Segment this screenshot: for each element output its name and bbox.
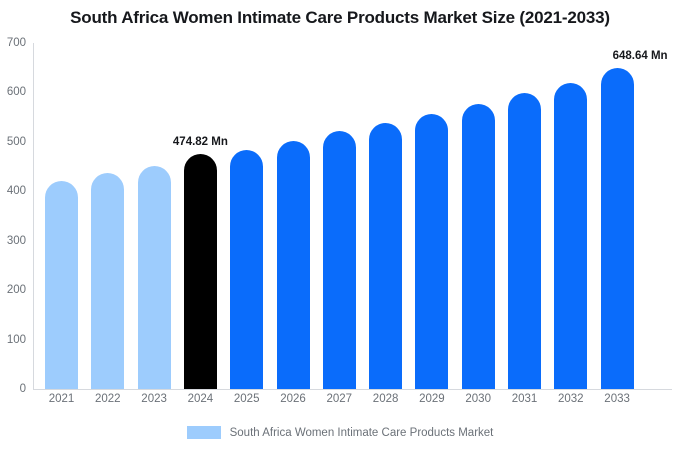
y-axis-tick-500: 500 bbox=[7, 136, 26, 148]
chart-title: South Africa Women Intimate Care Product… bbox=[0, 8, 680, 28]
x-axis-tick-2022: 2022 bbox=[91, 393, 124, 405]
x-axis-tick-2028: 2028 bbox=[369, 393, 402, 405]
bar-fill-2023 bbox=[138, 166, 171, 389]
bar-fill-2027 bbox=[323, 131, 356, 389]
bar-fill-2022 bbox=[91, 173, 124, 389]
bar-2033[interactable]: 648.64 Mn bbox=[601, 68, 634, 389]
bar-fill-2024 bbox=[184, 154, 217, 389]
bar-fill-2032 bbox=[554, 83, 587, 389]
bar-fill-2028 bbox=[369, 123, 402, 389]
bar-fill-2033 bbox=[601, 68, 634, 389]
bar-2027[interactable] bbox=[323, 131, 356, 389]
bar-fill-2026 bbox=[277, 141, 310, 389]
bar-2023[interactable] bbox=[138, 166, 171, 389]
x-axis-tick-2033: 2033 bbox=[601, 393, 634, 405]
x-axis-tick-2024: 2024 bbox=[184, 393, 217, 405]
bar-2024[interactable]: 474.82 Mn bbox=[184, 154, 217, 389]
bar-2032[interactable] bbox=[554, 83, 587, 389]
y-axis-tick-300: 300 bbox=[7, 235, 26, 247]
x-axis-line bbox=[33, 389, 672, 390]
bar-fill-2029 bbox=[415, 114, 448, 389]
x-axis-tick-2023: 2023 bbox=[138, 393, 171, 405]
y-axis-tick-0: 0 bbox=[20, 383, 26, 395]
bar-fill-2030 bbox=[462, 104, 495, 389]
bar-fill-2021 bbox=[45, 181, 78, 389]
legend-label-market: South Africa Women Intimate Care Product… bbox=[230, 427, 494, 439]
y-axis-tick-600: 600 bbox=[7, 86, 26, 98]
x-axis-tick-2029: 2029 bbox=[415, 393, 448, 405]
bar-fill-2025 bbox=[230, 150, 263, 389]
y-axis-tick-400: 400 bbox=[7, 185, 26, 197]
x-axis-tick-2027: 2027 bbox=[323, 393, 356, 405]
plot-area: 474.82 Mn648.64 Mn bbox=[33, 43, 672, 389]
bar-fill-2031 bbox=[508, 93, 541, 389]
y-axis-tick-200: 200 bbox=[7, 284, 26, 296]
bar-2029[interactable] bbox=[415, 114, 448, 389]
chart-container: South Africa Women Intimate Care Product… bbox=[0, 0, 680, 450]
bar-2030[interactable] bbox=[462, 104, 495, 389]
bar-value-label-2033: 648.64 Mn bbox=[613, 50, 668, 62]
bar-value-label-2024: 474.82 Mn bbox=[173, 136, 228, 148]
x-axis-tick-2032: 2032 bbox=[554, 393, 587, 405]
chart-legend: South Africa Women Intimate Care Product… bbox=[0, 426, 680, 439]
x-axis-tick-2025: 2025 bbox=[230, 393, 263, 405]
bar-2028[interactable] bbox=[369, 123, 402, 389]
bar-2031[interactable] bbox=[508, 93, 541, 389]
bar-2022[interactable] bbox=[91, 173, 124, 389]
x-axis-tick-2021: 2021 bbox=[45, 393, 78, 405]
y-axis-tick-700: 700 bbox=[7, 37, 26, 49]
x-axis-tick-2031: 2031 bbox=[508, 393, 541, 405]
bar-2021[interactable] bbox=[45, 181, 78, 389]
y-axis-tick-100: 100 bbox=[7, 334, 26, 346]
x-axis-tick-2030: 2030 bbox=[462, 393, 495, 405]
legend-swatch-market bbox=[187, 426, 221, 439]
bar-2025[interactable] bbox=[230, 150, 263, 389]
bar-2026[interactable] bbox=[277, 141, 310, 389]
x-axis-tick-2026: 2026 bbox=[277, 393, 310, 405]
